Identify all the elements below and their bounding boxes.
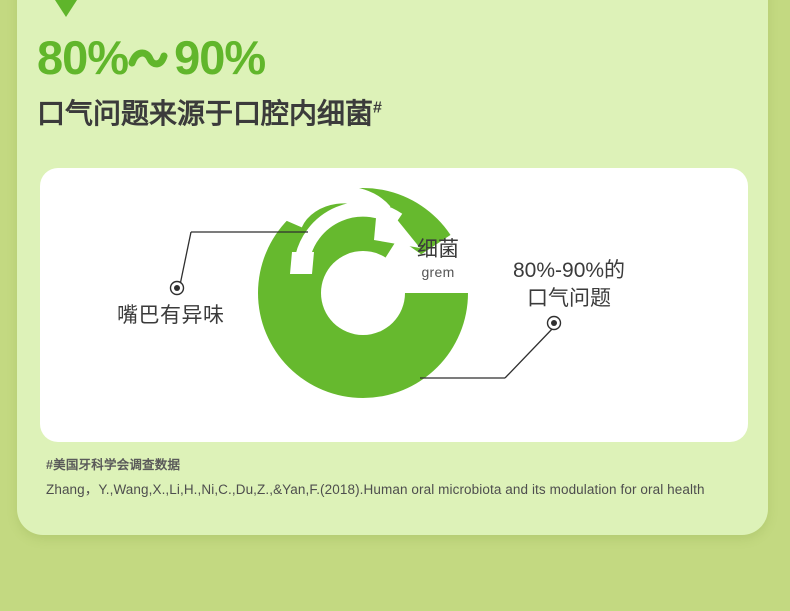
triangle-down-icon <box>55 0 77 17</box>
page-subtitle: 口气问题来源于口腔内细菌# <box>37 97 382 131</box>
callout-label-breath-line2: 口气问题 <box>513 285 625 313</box>
callout-label-breath-problem: 80%-90%的 口气问题 <box>513 257 625 314</box>
green-donut-with-arrow-icon <box>248 178 488 408</box>
callout-label-breath-line1: 80%-90%的 <box>513 259 625 282</box>
callout-label-bacteria-cn: 细菌 <box>417 238 459 261</box>
callout-label-bacteria: 细菌 grem <box>417 238 459 280</box>
footnote-source: #美国牙科学会调查数据 <box>46 454 180 473</box>
callout-label-bacteria-en: grem <box>417 264 459 280</box>
subtitle-text: 口气问题来源于口腔内细菌 <box>37 98 373 129</box>
headline-left-value: 80% <box>37 31 128 84</box>
callout-label-mouth-odor: 嘴巴有异味 <box>117 299 225 329</box>
footnote-citation: Zhang，Y.,Wang,X.,Li,H.,Ni,C.,Du,Z.,&Yan,… <box>46 478 705 498</box>
infographic-stage: 80% 90% 口气问题来源于口腔内细菌# <box>0 0 790 611</box>
headline-right-value: 90% <box>174 31 265 84</box>
wave-connector-icon <box>128 36 174 82</box>
subtitle-footnote-marker: # <box>373 100 382 117</box>
page-title: 80% 90% <box>37 34 265 85</box>
